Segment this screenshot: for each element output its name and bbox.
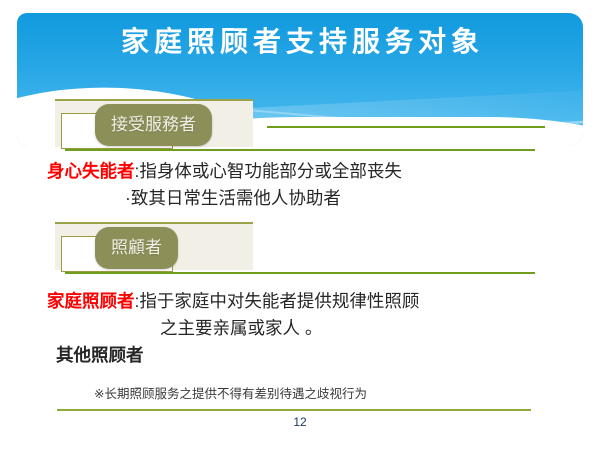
section-service-recipient: 接受服務者: [55, 99, 555, 159]
definition-2-line1: 指于家庭中对失能者提供规律性照顾: [139, 291, 419, 311]
definition-1-line1: 指身体或心智功能部分或全部丧失: [139, 161, 402, 181]
section-1-rule-top: [267, 126, 545, 128]
footer-divider: [57, 409, 531, 411]
definition-1: 身心失能者:指身体或心智功能部分或全部丧失 ·致其日常生活需他人协助者: [47, 158, 402, 212]
section-1-pill-label[interactable]: 接受服務者: [95, 104, 212, 146]
definition-2-line2: 之主要亲属或家人 。: [47, 315, 419, 342]
slide-title: 家庭照顾者支持服务对象: [0, 28, 600, 56]
section-1-rule-bottom: [65, 149, 535, 151]
section-2-pill-label[interactable]: 照顧者: [95, 227, 178, 269]
definition-1-term: 身心失能者: [47, 161, 135, 181]
footnote: ※长期照顾服务之提供不得有差别待遇之歧视行为: [94, 383, 367, 402]
definition-2: 家庭照顾者:指于家庭中对失能者提供规律性照顾 之主要亲属或家人 。: [47, 288, 419, 342]
section-2-rule-bottom: [65, 272, 535, 274]
section-caregiver: 照顧者: [55, 222, 555, 282]
subheading-other-caregivers: 其他照顾者: [56, 342, 144, 367]
page-number: 12: [0, 415, 600, 429]
definition-1-line2: ·致其日常生活需他人协助者: [47, 185, 402, 212]
definition-2-term: 家庭照顾者: [47, 291, 135, 311]
